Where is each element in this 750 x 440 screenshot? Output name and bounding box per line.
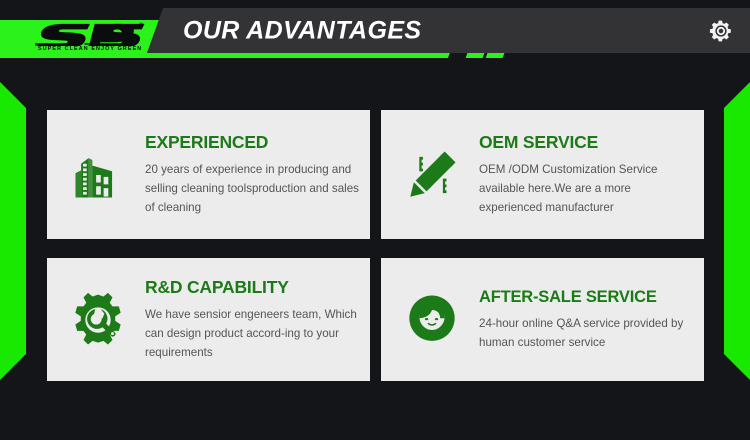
advantages-banner: OUR ADVANTAGES bbox=[0, 0, 750, 440]
right-decoration-shape bbox=[724, 82, 750, 380]
card-icon-wrapper bbox=[395, 283, 469, 357]
card-body: EXPERIENCED 20 years of experience in pr… bbox=[145, 132, 360, 217]
header: OUR ADVANTAGES bbox=[0, 0, 750, 58]
card-icon-wrapper bbox=[61, 283, 135, 357]
advantages-grid: EXPERIENCED 20 years of experience in pr… bbox=[47, 110, 704, 381]
header-title-bar: OUR ADVANTAGES bbox=[147, 8, 750, 53]
settings-button[interactable] bbox=[706, 16, 736, 46]
advantage-card-rd-capability[interactable]: R&D CAPABILITY We have sensior engeneers… bbox=[47, 258, 370, 381]
advantage-card-after-sale-service[interactable]: AFTER-SALE SERVICE 24-hour online Q&A se… bbox=[381, 258, 704, 381]
card-title: R&D CAPABILITY bbox=[145, 277, 360, 298]
advantage-card-experienced[interactable]: EXPERIENCED 20 years of experience in pr… bbox=[47, 110, 370, 239]
gear-icon bbox=[708, 18, 734, 44]
brand-tagline: SUPER CLEAN ENJOY GREEN bbox=[38, 46, 142, 52]
card-body: R&D CAPABILITY We have sensior engeneers… bbox=[145, 277, 360, 362]
left-decoration-shape bbox=[0, 82, 26, 380]
advantage-card-oem-service[interactable]: OEM SERVICE OEM /ODM Customization Servi… bbox=[381, 110, 704, 239]
card-description: OEM /ODM Customization Service available… bbox=[479, 160, 694, 217]
card-body: AFTER-SALE SERVICE 24-hour online Q&A se… bbox=[479, 288, 694, 352]
card-icon-wrapper bbox=[61, 138, 135, 212]
card-title: AFTER-SALE SERVICE bbox=[479, 288, 694, 307]
pencil-icon bbox=[403, 146, 461, 204]
card-title: EXPERIENCED bbox=[145, 132, 360, 153]
card-body: OEM SERVICE OEM /ODM Customization Servi… bbox=[479, 132, 694, 217]
card-title: OEM SERVICE bbox=[479, 132, 694, 153]
card-description: We have sensior engeneers team, Which ca… bbox=[145, 305, 360, 362]
headset-support-icon bbox=[403, 291, 461, 349]
building-icon bbox=[68, 145, 128, 205]
gear-wrench-icon bbox=[69, 291, 127, 349]
registered-mark: ® bbox=[139, 23, 143, 29]
page-title: OUR ADVANTAGES bbox=[183, 16, 421, 45]
card-icon-wrapper bbox=[395, 138, 469, 212]
card-description: 24-hour online Q&A service provided by h… bbox=[479, 314, 694, 352]
sps-wordmark-icon bbox=[35, 22, 147, 46]
brand-logo[interactable]: ® SUPER CLEAN ENJOY GREEN bbox=[35, 22, 147, 56]
card-description: 20 years of experience in producing and … bbox=[145, 160, 360, 217]
